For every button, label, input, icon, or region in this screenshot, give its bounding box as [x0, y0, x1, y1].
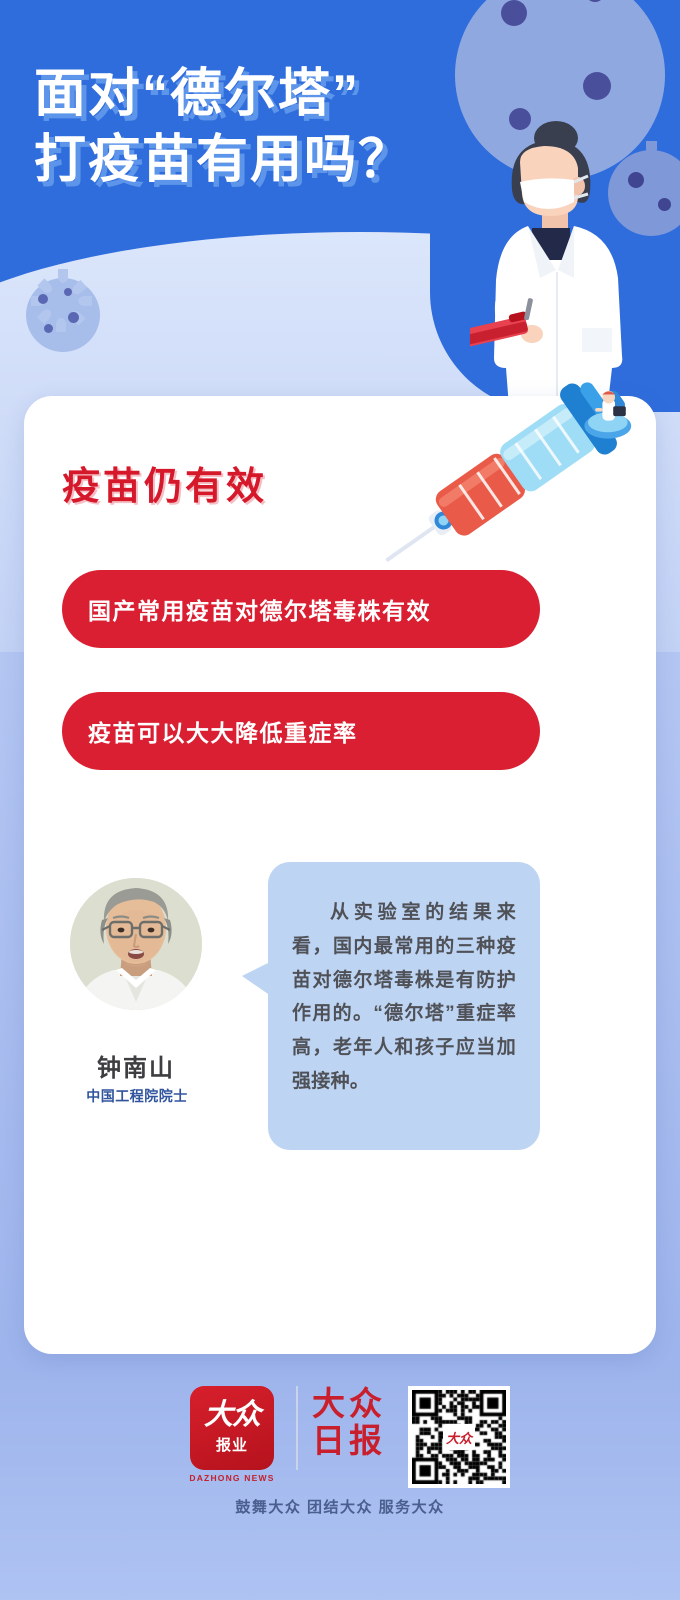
key-point-2: 疫苗可以大大降低重症率: [62, 692, 540, 770]
publisher-logo: 大众 报业 DAZHONG NEWS: [170, 1386, 294, 1483]
expert-name: 钟南山: [70, 1048, 202, 1083]
doctor-illustration-icon: [470, 120, 650, 420]
footer-divider: [296, 1386, 298, 1470]
expert-quote-text: 从实验室的结果来看，国内最常用的三种疫苗对德尔塔毒株是有防护作用的。“德尔塔”重…: [268, 862, 540, 1099]
key-point-1: 国产常用疫苗对德尔塔毒株有效: [62, 570, 540, 648]
qr-center-glyph: 大众: [446, 1428, 472, 1447]
key-point-2-label: 疫苗可以大大降低重症率: [88, 714, 358, 748]
logo-glyph: 大众: [204, 1401, 260, 1430]
section-heading: 疫苗仍有效: [62, 455, 267, 510]
expert-portrait-photo: [70, 878, 202, 1010]
logo-sub-glyph: 报业: [216, 1434, 248, 1455]
paper-name-line-1: 大众: [312, 1386, 386, 1423]
paper-name: 大众 日报: [312, 1386, 386, 1460]
infographic-poster: 面对“德尔塔” 打疫苗有用吗？: [0, 0, 680, 1600]
key-point-1-label: 国产常用疫苗对德尔塔毒株有效: [88, 592, 431, 626]
logo-mark: 大众 报业: [190, 1386, 274, 1470]
footer-tagline: 鼓舞大众 团结大众 服务大众: [0, 1496, 680, 1517]
paper-name-line-2: 日报: [312, 1423, 386, 1460]
page-title: 面对“德尔塔” 打疫苗有用吗？: [34, 62, 412, 193]
virus-particle-icon: [26, 278, 100, 352]
title-line-1: 面对“德尔塔”: [34, 62, 412, 128]
logo-english-name: DAZHONG NEWS: [170, 1473, 294, 1483]
title-line-2: 打疫苗有用吗？: [34, 128, 412, 194]
expert-quote-bubble: 从实验室的结果来看，国内最常用的三种疫苗对德尔塔毒株是有防护作用的。“德尔塔”重…: [268, 862, 540, 1150]
qr-code-icon[interactable]: 大众: [408, 1386, 510, 1488]
qr-center-logo: 大众: [443, 1424, 475, 1450]
expert-title: 中国工程院院士: [54, 1086, 220, 1106]
syringe-icon: [352, 382, 652, 582]
